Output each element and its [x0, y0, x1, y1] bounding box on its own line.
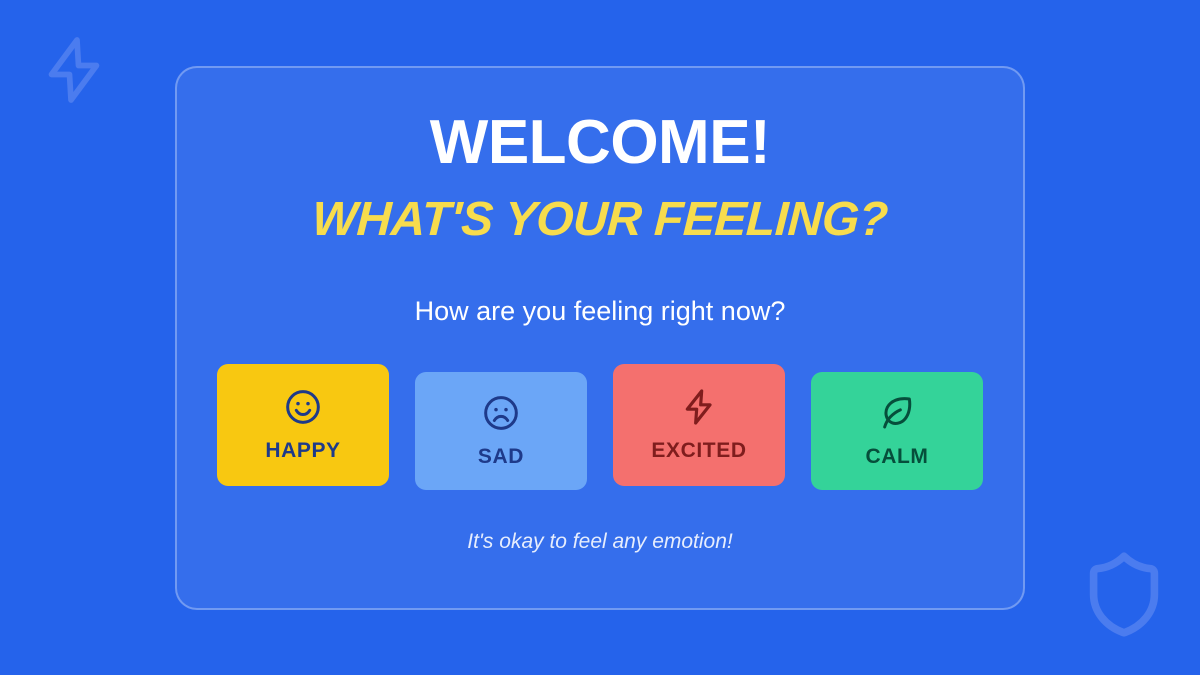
emotion-card-calm[interactable]: CALM: [811, 372, 983, 490]
emotion-card-excited[interactable]: EXCITED: [613, 364, 785, 486]
emotion-card-label: CALM: [865, 445, 928, 469]
emotion-card-happy[interactable]: HAPPY: [217, 364, 389, 486]
emotion-card-label: SAD: [478, 445, 524, 469]
bolt-icon: [38, 22, 110, 118]
welcome-panel: WELCOME! WHAT'S YOUR FEELING? How are yo…: [175, 66, 1025, 610]
page-title: WELCOME!: [430, 112, 770, 174]
emotion-card-label: EXCITED: [651, 439, 746, 463]
shield-icon: [1076, 539, 1172, 647]
page-subtitle-question: WHAT'S YOUR FEELING?: [311, 196, 889, 244]
leaf-icon: [877, 393, 917, 433]
emotion-options: HAPPY SAD EXCITED CALM: [217, 364, 983, 490]
emotion-card-label: HAPPY: [265, 439, 340, 463]
lightning-bolt-icon: [679, 387, 719, 427]
prompt-text: How are you feeling right now?: [415, 296, 786, 327]
reassurance-text: It's okay to feel any emotion!: [467, 530, 732, 554]
smiley-face-icon: [283, 387, 323, 427]
frowning-face-icon: [481, 393, 521, 433]
emotion-card-sad[interactable]: SAD: [415, 372, 587, 490]
